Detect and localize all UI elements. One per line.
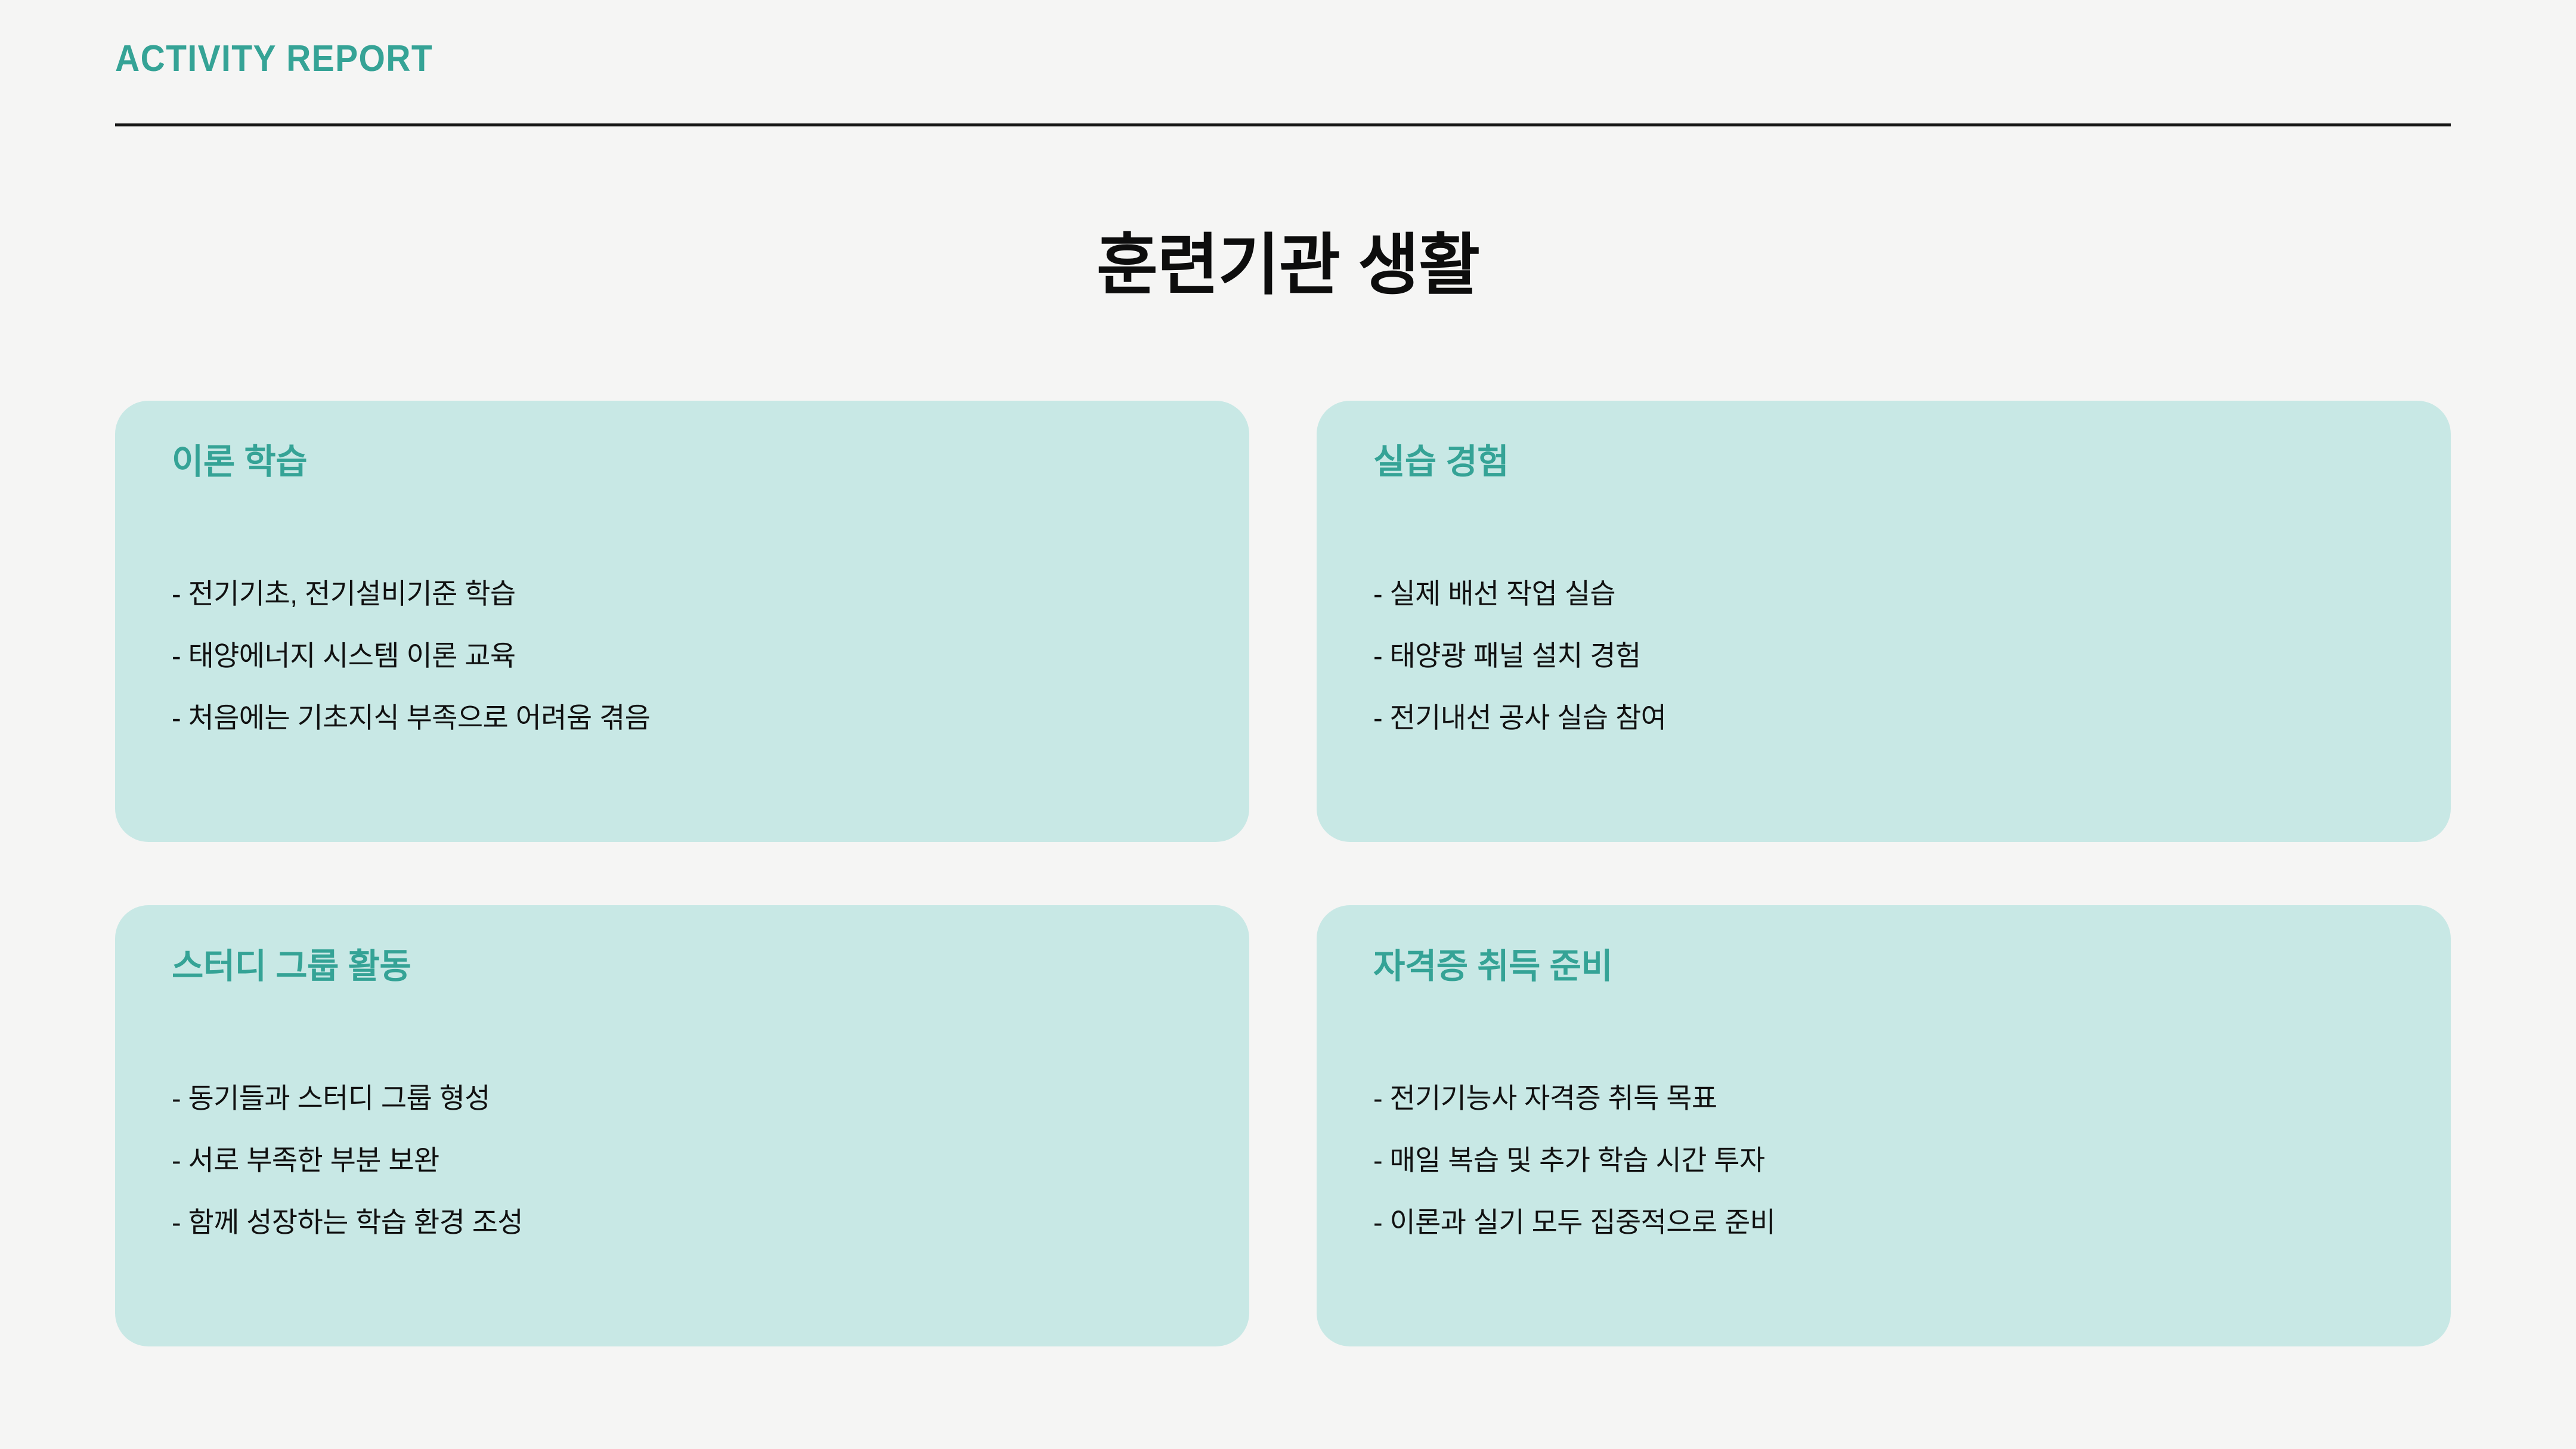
slide-root: ACTIVITY REPORT 훈련기관 생활 이론 학습 - 전기기초, 전기… [0, 0, 2576, 1449]
card-list-certification: - 전기기능사 자격증 취득 목표 - 매일 복습 및 추가 학습 시간 투자 … [1373, 1084, 2409, 1236]
card-title-study-group: 스터디 그룹 활동 [172, 947, 1193, 987]
list-item: - 태양광 패널 설치 경험 [1373, 642, 2409, 670]
activity-card-practice[interactable]: 실습 경험 - 실제 배선 작업 실습 - 태양광 패널 설치 경험 - 전기내… [1317, 401, 2451, 842]
list-item: - 동기들과 스터디 그룹 형성 [172, 1084, 1207, 1112]
activity-card-study-group[interactable]: 스터디 그룹 활동 - 동기들과 스터디 그룹 형성 - 서로 부족한 부분 보… [115, 905, 1249, 1346]
list-item: - 이론과 실기 모두 집중적으로 준비 [1373, 1208, 2409, 1236]
list-item: - 실제 배선 작업 실습 [1373, 580, 2409, 608]
card-title-practice: 실습 경험 [1373, 442, 2394, 482]
header-divider-rule [115, 123, 2451, 126]
report-eyebrow-label: ACTIVITY REPORT [115, 41, 433, 78]
list-item: - 전기기초, 전기설비기준 학습 [172, 580, 1207, 608]
list-item: - 전기내선 공사 실습 참여 [1373, 704, 2409, 732]
activity-card-theory[interactable]: 이론 학습 - 전기기초, 전기설비기준 학습 - 태양에너지 시스템 이론 교… [115, 401, 1249, 842]
list-item: - 전기기능사 자격증 취득 목표 [1373, 1084, 2409, 1112]
list-item: - 서로 부족한 부분 보완 [172, 1146, 1207, 1174]
card-list-practice: - 실제 배선 작업 실습 - 태양광 패널 설치 경험 - 전기내선 공사 실… [1373, 580, 2409, 732]
list-item: - 함께 성장하는 학습 환경 조성 [172, 1208, 1207, 1236]
list-item: - 처음에는 기초지식 부족으로 어려움 겪음 [172, 704, 1207, 732]
list-item: - 태양에너지 시스템 이론 교육 [172, 642, 1207, 670]
card-list-theory: - 전기기초, 전기설비기준 학습 - 태양에너지 시스템 이론 교육 - 처음… [172, 580, 1207, 732]
activity-card-grid: 이론 학습 - 전기기초, 전기설비기준 학습 - 태양에너지 시스템 이론 교… [115, 401, 2451, 1346]
card-title-certification: 자격증 취득 준비 [1373, 947, 2394, 987]
list-item: - 매일 복습 및 추가 학습 시간 투자 [1373, 1146, 2409, 1174]
page-title: 훈련기관 생활 [0, 224, 2576, 307]
card-list-study-group: - 동기들과 스터디 그룹 형성 - 서로 부족한 부분 보완 - 함께 성장하… [172, 1084, 1207, 1236]
activity-card-certification[interactable]: 자격증 취득 준비 - 전기기능사 자격증 취득 목표 - 매일 복습 및 추가… [1317, 905, 2451, 1346]
card-title-theory: 이론 학습 [172, 442, 1193, 482]
